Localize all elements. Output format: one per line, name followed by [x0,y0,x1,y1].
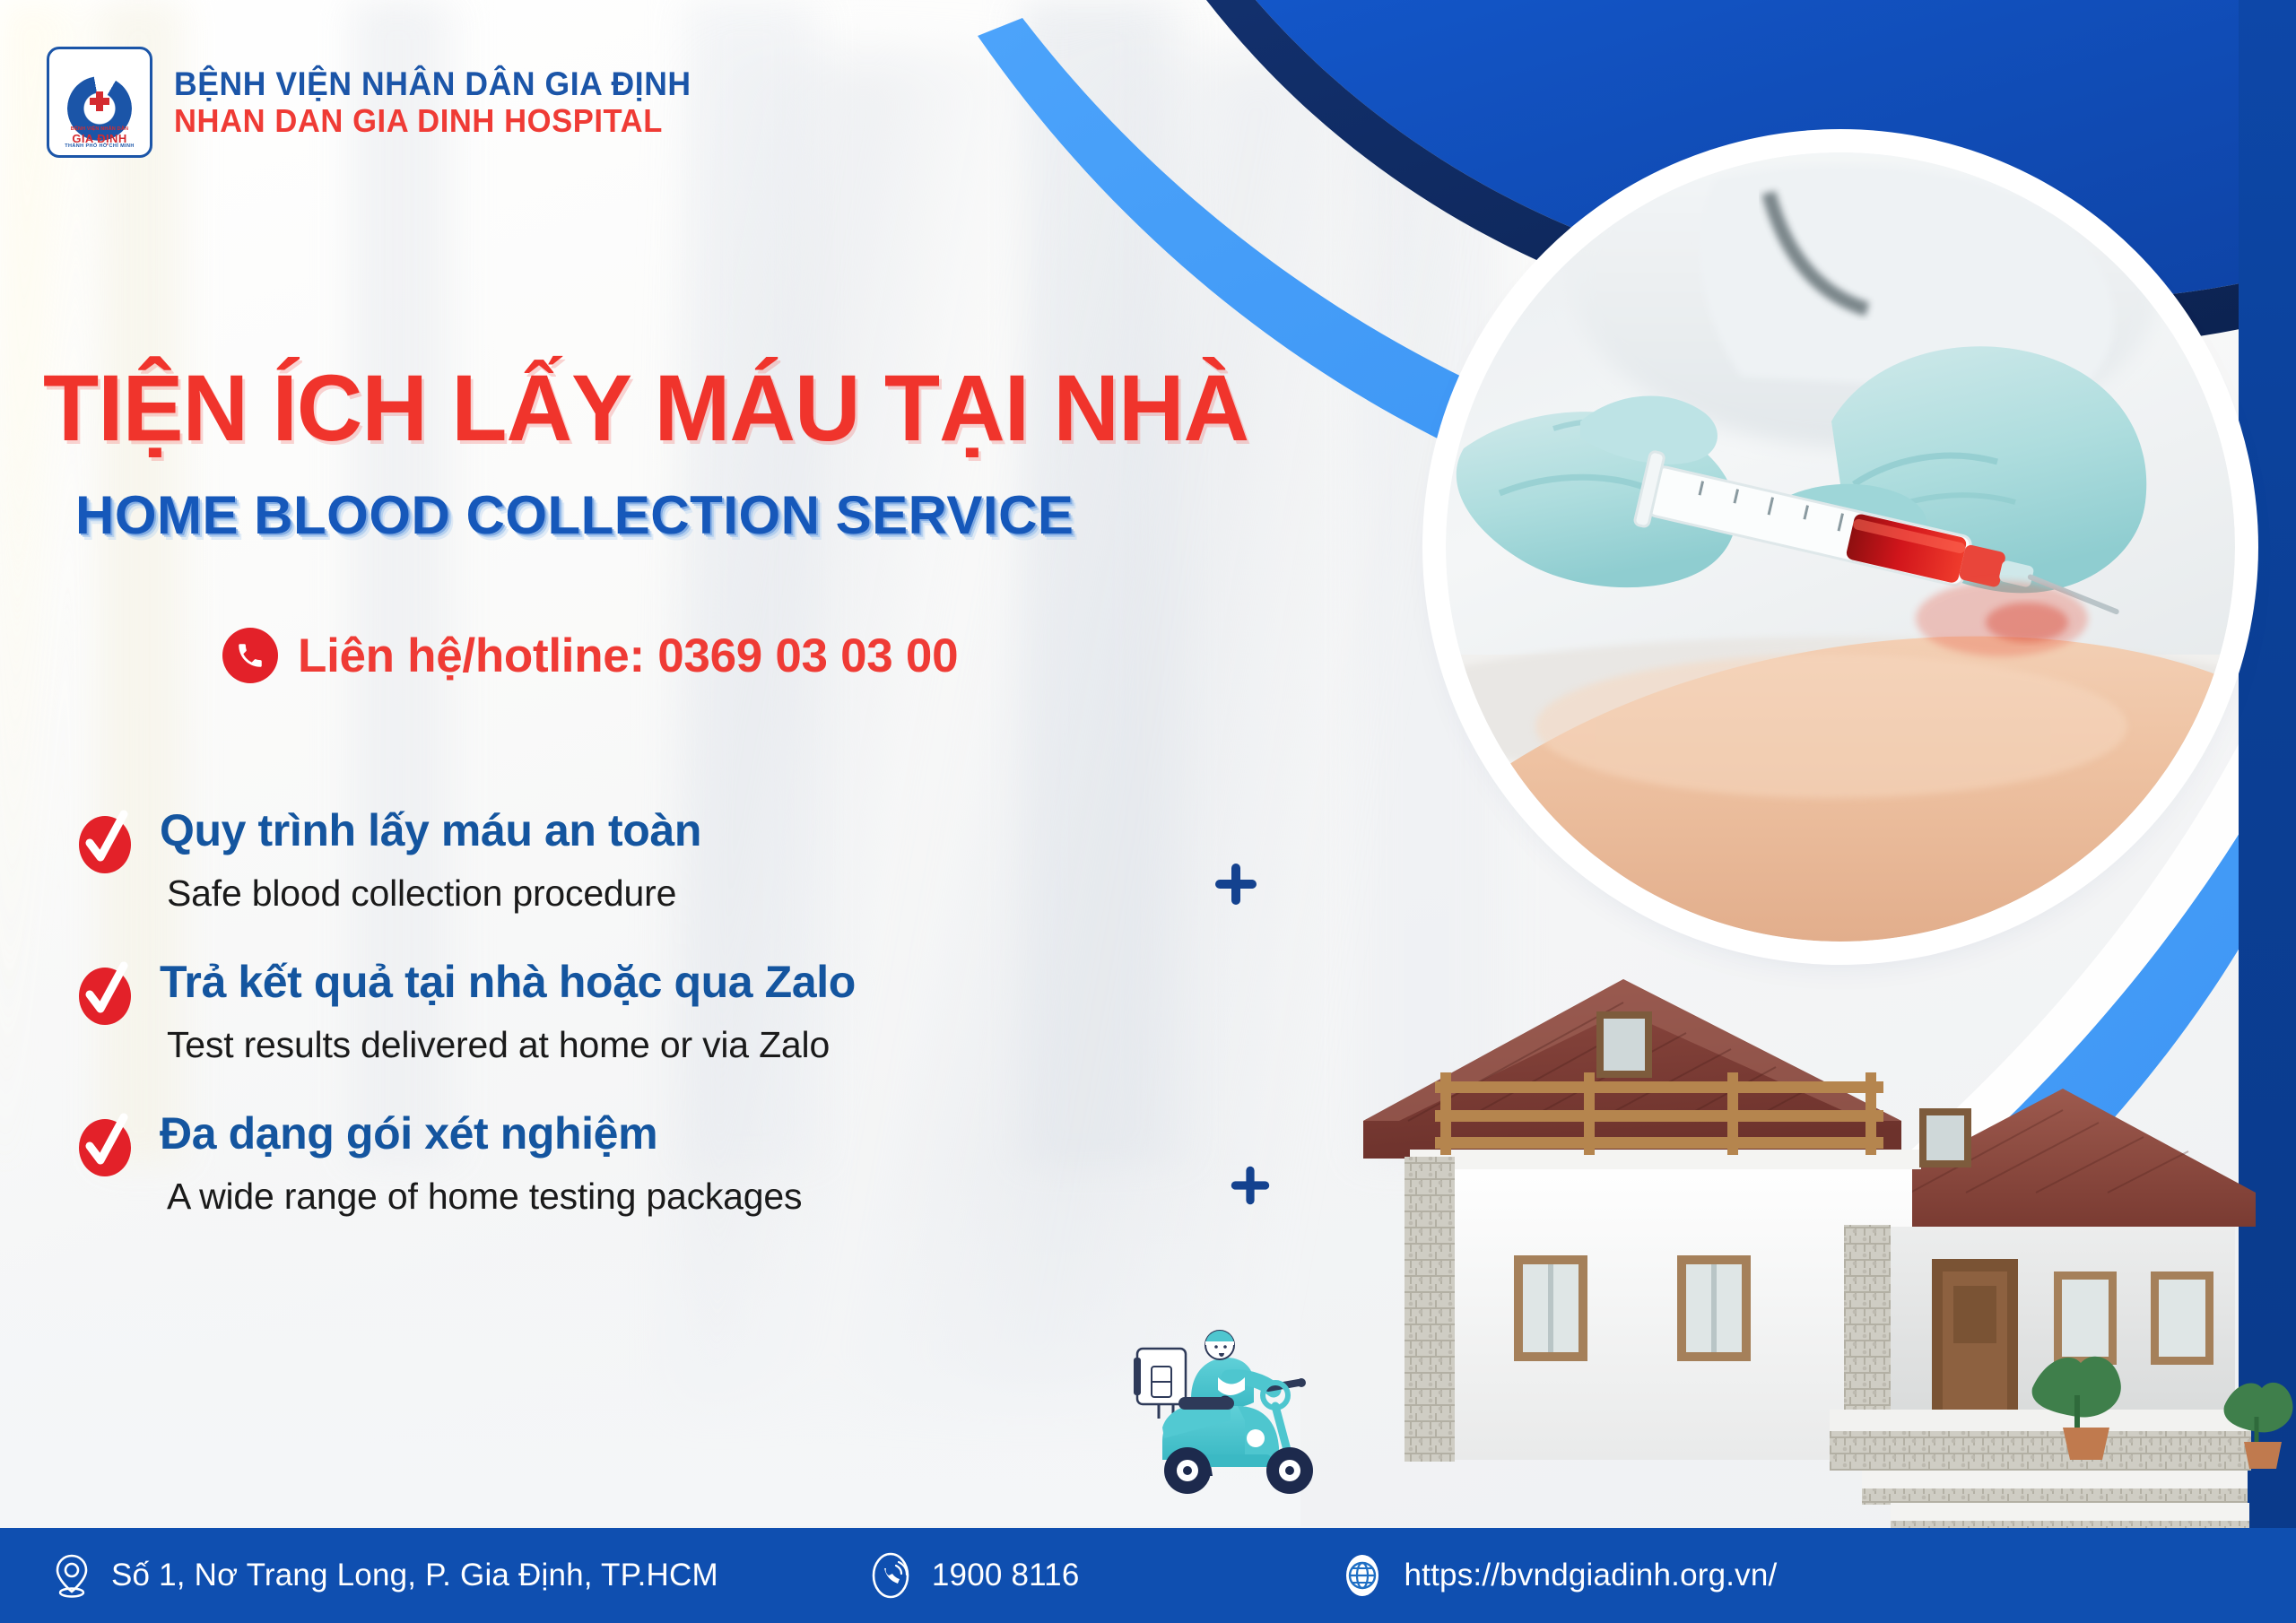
hospital-logo-icon: BỆNH VIỆN NHÂN DÂN GIA ĐỊNH THÀNH PHỐ HỒ… [47,47,152,158]
house-illustration [1327,897,2296,1560]
footer-phone-text: 1900 8116 [932,1558,1080,1593]
feature-text-block: Quy trình lấy máu an toàn Safe blood col… [160,805,701,916]
poster-canvas: BỆNH VIỆN NHÂN DÂN GIA ĐỊNH THÀNH PHỐ HỒ… [0,0,2296,1623]
hotline-label: Liên hệ/hotline: 0369 03 03 00 [298,629,958,683]
globe-icon [1340,1551,1385,1600]
feature-title-vi: Trả kết quả tại nhà hoặc qua Zalo [160,957,856,1007]
feature-title-en: Test results delivered at home or via Za… [167,1023,856,1067]
footer-website-text: https://bvndgiadinh.org.vn/ [1405,1558,1778,1593]
delivery-scooter-illustration [1132,1284,1347,1508]
phone-ring-icon [869,1551,912,1600]
blood-draw-photo-inner [1446,152,2235,942]
red-cross-icon [90,91,109,111]
brand-name-vi: BỆNH VIỆN NHÂN DÂN GIA ĐỊNH [174,65,691,102]
footer-address-text: Số 1, Nơ Trang Long, P. Gia Định, TP.HCM [111,1558,718,1593]
location-pin-icon [52,1552,91,1599]
check-badge-icon [77,1112,133,1178]
page-title-vi: TIỆN ÍCH LẤY MÁU TẠI NHÀ [43,355,1248,463]
logo-caption-line3: THÀNH PHỐ HỒ CHÍ MINH [49,144,150,150]
list-item: Trả kết quả tại nhà hoặc qua Zalo Test r… [77,957,1261,1067]
feature-text-block: Đa dạng gói xét nghiệm A wide range of h… [160,1108,802,1219]
feature-title-vi: Quy trình lấy máu an toàn [160,805,701,855]
list-item: Quy trình lấy máu an toàn Safe blood col… [77,805,1261,916]
feature-title-en: Safe blood collection procedure [167,872,701,916]
feature-list: Quy trình lấy máu an toàn Safe blood col… [77,805,1261,1219]
feature-text-block: Trả kết quả tại nhà hoặc qua Zalo Test r… [160,957,856,1067]
feature-title-vi: Đa dạng gói xét nghiệm [160,1108,802,1159]
footer-contact-bar: Số 1, Nơ Trang Long, P. Gia Định, TP.HCM… [0,1528,2296,1623]
phone-icon [222,628,278,683]
footer-phone[interactable]: 1900 8116 [869,1551,1080,1600]
page-title-en: HOME BLOOD COLLECTION SERVICE [75,484,1074,546]
brand-name-en: NHAN DAN GIA DINH HOSPITAL [174,103,691,139]
hotline-block[interactable]: Liên hệ/hotline: 0369 03 03 00 [222,628,958,683]
footer-website[interactable]: https://bvndgiadinh.org.vn/ [1340,1551,1778,1600]
logo-caption: BỆNH VIỆN NHÂN DÂN GIA ĐỊNH THÀNH PHỐ HỒ… [49,127,150,150]
footer-address[interactable]: Số 1, Nơ Trang Long, P. Gia Định, TP.HCM [52,1552,718,1599]
check-badge-icon [77,960,133,1027]
check-badge-icon [77,809,133,875]
brand-name-block: BỆNH VIỆN NHÂN DÂN GIA ĐỊNH NHAN DAN GIA… [174,65,713,139]
blood-draw-photo [1446,152,2235,942]
brand-header: BỆNH VIỆN NHÂN DÂN GIA ĐỊNH THÀNH PHỐ HỒ… [47,47,713,158]
feature-title-en: A wide range of home testing packages [167,1175,802,1219]
list-item: Đa dạng gói xét nghiệm A wide range of h… [77,1108,1261,1219]
